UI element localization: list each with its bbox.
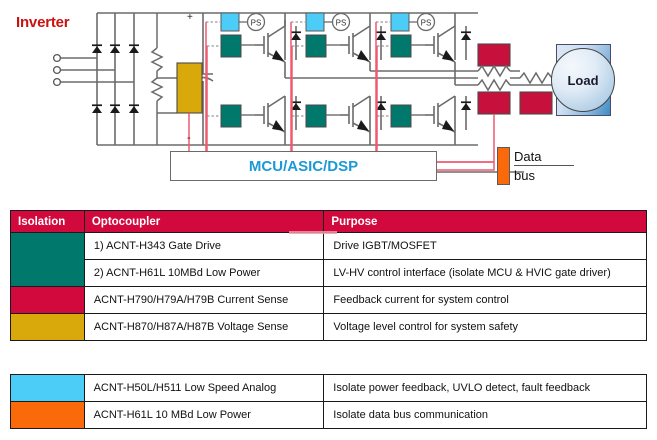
table-cell-purpose: LV-HV control interface (isolate MCU & H… [324, 260, 647, 287]
table-cell-optocoupler: ACNT-H790/H79A/H79B Current Sense [84, 287, 324, 314]
table-cell-purpose: Feedback current for system control [324, 287, 647, 314]
table-cell-optocoupler: 2) ACNT-H61L 10MBd Low Power [84, 260, 324, 287]
purpose-text: Feedback current for system control [324, 287, 646, 313]
table-header-row: Isolation Optocoupler Purpose [11, 211, 647, 233]
table-cell-optocoupler: ACNT-H870/H87A/H87B Voltage Sense [84, 314, 324, 341]
data-bus-label-line1: Data [514, 149, 541, 164]
gate-drive-isolator-blocks [221, 35, 411, 127]
dc-minus-label: - [187, 132, 191, 144]
header-purpose: Purpose [324, 211, 647, 233]
table-row: 2) ACNT-H61L 10MBd Low Power LV-HV contr… [11, 260, 647, 287]
svg-text:PS: PS [421, 19, 432, 28]
mcu-asic-dsp-label: MCU/ASIC/DSP [249, 158, 358, 175]
table-cell-purpose: Isolate power feedback, UVLO detect, fau… [324, 375, 647, 402]
isolation-swatch-gold [11, 314, 85, 341]
isolation-swatch-cyan [11, 375, 85, 402]
optocoupler-text: ACNT-H61L 10 MBd Low Power [85, 402, 324, 428]
table-row: ACNT-H790/H79A/H79B Current Sense Feedba… [11, 287, 647, 314]
header-underline-artifact [289, 231, 337, 234]
table-row: ACNT-H870/H87A/H87B Voltage Sense Voltag… [11, 314, 647, 341]
load-label: Load [567, 73, 598, 88]
dc-plus-label: + [187, 12, 193, 23]
three-phase-input-terminals [54, 55, 61, 86]
current-sense-isolator-blocks [478, 44, 552, 114]
table-row: ACNT-H50L/H511 Low Speed Analog Isolate … [11, 375, 647, 402]
table-row: 1) ACNT-H343 Gate Drive Drive IGBT/MOSFE… [11, 233, 647, 260]
data-bus-label: Data bus [514, 148, 574, 184]
optocoupler-text: 1) ACNT-H343 Gate Drive [85, 233, 324, 259]
igbt-switches [255, 20, 471, 132]
table-cell-purpose: Voltage level control for system safety [324, 314, 647, 341]
svg-text:PS: PS [336, 19, 347, 28]
isolation-swatch-teal [11, 233, 85, 287]
isolation-swatch-orange [11, 402, 85, 429]
optocoupler-table-secondary: ACNT-H50L/H511 Low Speed Analog Isolate … [10, 374, 647, 429]
table-cell-purpose: Drive IGBT/MOSFET [324, 233, 647, 260]
table-cell-optocoupler: ACNT-H61L 10 MBd Low Power [84, 402, 324, 429]
header-optocoupler: Optocoupler [84, 211, 324, 233]
optocoupler-text: 2) ACNT-H61L 10MBd Low Power [85, 260, 324, 286]
voltage-sense-isolator-block [177, 63, 202, 113]
header-isolation: Isolation [11, 211, 85, 233]
svg-text:PS: PS [251, 19, 262, 28]
purpose-text: Drive IGBT/MOSFET [324, 233, 646, 259]
purpose-text: Voltage level control for system safety [324, 314, 646, 340]
table-cell-optocoupler: 1) ACNT-H343 Gate Drive [84, 233, 324, 260]
load-symbol: Load [551, 48, 615, 112]
optocoupler-text: ACNT-H870/H87A/H87B Voltage Sense [85, 314, 324, 340]
data-bus-label-line2: bus [514, 165, 574, 184]
table-cell-purpose: Isolate data bus communication [324, 402, 647, 429]
data-bus-isolator-block [497, 147, 510, 185]
inverter-title-label: Inverter [16, 14, 69, 31]
purpose-text: Isolate power feedback, UVLO detect, fau… [324, 375, 646, 401]
purpose-text: LV-HV control interface (isolate MCU & H… [324, 260, 646, 286]
purpose-text: Isolate data bus communication [324, 402, 646, 428]
voltage-divider [152, 13, 177, 145]
table-row: ACNT-H61L 10 MBd Low Power Isolate data … [11, 402, 647, 429]
isolation-swatch-red [11, 287, 85, 314]
optocoupler-text: ACNT-H790/H79A/H79B Current Sense [85, 287, 324, 313]
optocoupler-table-main: Isolation Optocoupler Purpose 1) ACNT-H3… [10, 210, 647, 341]
optocoupler-text: ACNT-H50L/H511 Low Speed Analog [85, 375, 324, 401]
table-cell-optocoupler: ACNT-H50L/H511 Low Speed Analog [84, 375, 324, 402]
mcu-asic-dsp-block: MCU/ASIC/DSP [170, 151, 437, 181]
